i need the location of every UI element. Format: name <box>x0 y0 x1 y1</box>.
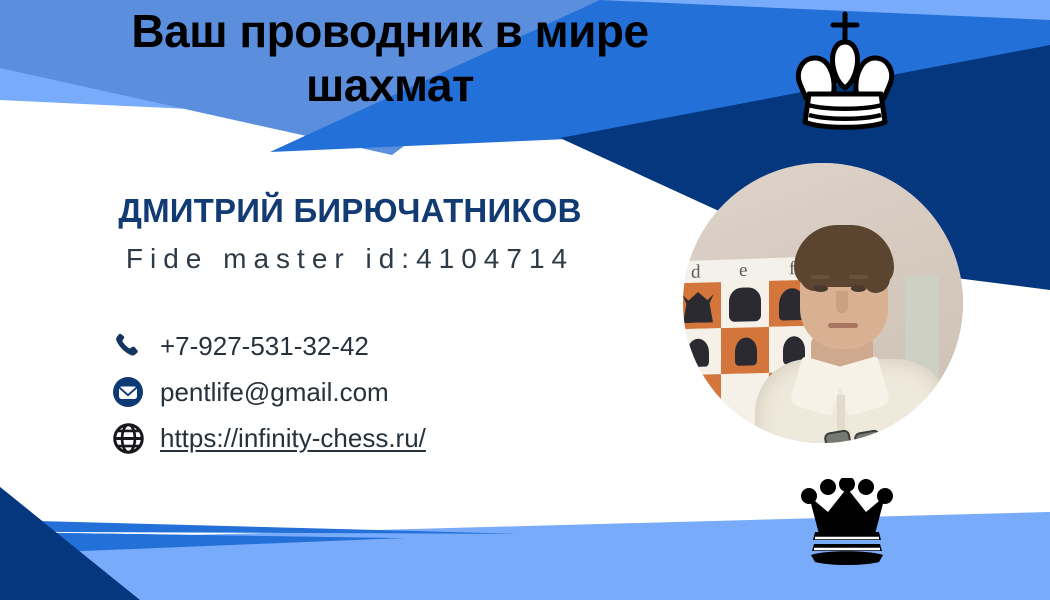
email-address: pentlife@gmail.com <box>160 377 389 408</box>
title-line-2: шахмат <box>40 58 740 112</box>
board-square <box>683 374 721 433</box>
phone-number: +7-927-531-32-42 <box>160 331 369 362</box>
board-piece-pawn <box>687 338 709 367</box>
globe-icon <box>108 418 148 458</box>
website-url[interactable]: https://infinity-chess.ru/ <box>160 423 426 454</box>
page-title: Ваш проводник в мире шахмат <box>40 4 740 113</box>
white-king-piece <box>793 8 897 136</box>
contact-row-website[interactable]: https://infinity-chess.ru/ <box>108 416 426 460</box>
email-icon <box>108 372 148 412</box>
contact-row-email[interactable]: pentlife@gmail.com <box>108 370 426 414</box>
person-title: Fide master id:4104714 <box>0 243 700 275</box>
title-line-1: Ваш проводник в мире <box>40 4 740 58</box>
board-piece-pawn-2 <box>735 337 757 366</box>
board-letter-e: e <box>739 260 747 282</box>
photo-subject-mouth <box>828 323 858 328</box>
photo-subject-brow-right <box>849 275 868 279</box>
photo-subject-nose <box>836 291 848 313</box>
bottom-lightblue-wedge <box>58 512 1050 600</box>
business-card: Ваш проводник в мире шахмат ДМИТРИЙ БИРЮ… <box>0 0 1050 600</box>
phone-icon <box>108 326 148 366</box>
black-queen-piece <box>795 478 899 568</box>
photo-subject-sunglasses <box>825 431 883 443</box>
contact-list: +7-927-531-32-42 pentlife@gmail.com <box>108 324 426 462</box>
photo-subject-brow-left <box>811 275 830 279</box>
board-piece-king <box>729 287 761 322</box>
person-name: ДМИТРИЙ БИРЮЧАТНИКОВ <box>0 192 700 230</box>
photo-subject-eye-left <box>813 285 828 292</box>
photo-subject-eye-right <box>851 285 866 292</box>
contact-row-phone[interactable]: +7-927-531-32-42 <box>108 324 426 368</box>
portrait-photo: d e f <box>683 163 963 443</box>
